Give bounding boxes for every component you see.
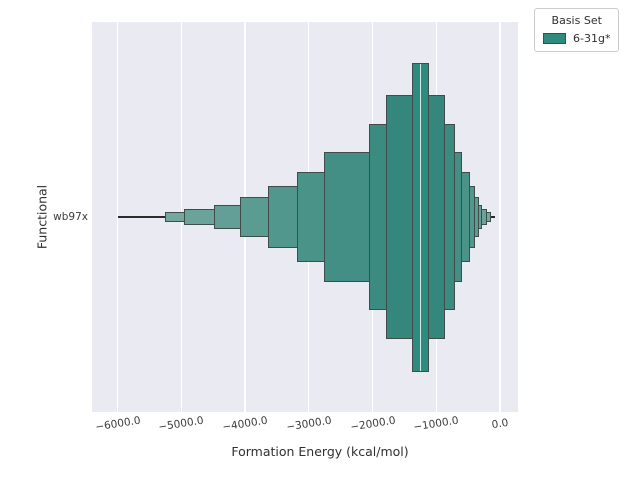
x-axis-label: Formation Energy (kcal/mol) [0,444,640,459]
figure-canvas: −6000.0−5000.0−4000.0−3000.0−2000.0−1000… [0,0,640,480]
x-tick-label: −6000.0 [94,415,141,434]
legend-entries: 6-31g* [543,32,610,45]
gridline-x [499,22,500,412]
x-tick-label: −1000.0 [413,415,460,434]
legend-title: Basis Set [543,14,610,27]
x-tick-label: −4000.0 [222,415,269,434]
legend: Basis Set 6-31g* [534,8,619,52]
y-axis-label: Functional [35,185,50,249]
legend-entry: 6-31g* [543,32,610,45]
legend-swatch [543,33,566,44]
x-tick-label: −3000.0 [285,415,332,434]
median-line [420,64,422,371]
legend-entry-label: 6-31g* [573,32,610,45]
x-tick-label: −5000.0 [158,415,205,434]
y-tick-label-wb97x: wb97x [53,211,88,223]
x-tick-label: −2000.0 [349,415,396,434]
x-tick-label: 0.0 [491,417,509,431]
plot-area [92,22,518,412]
